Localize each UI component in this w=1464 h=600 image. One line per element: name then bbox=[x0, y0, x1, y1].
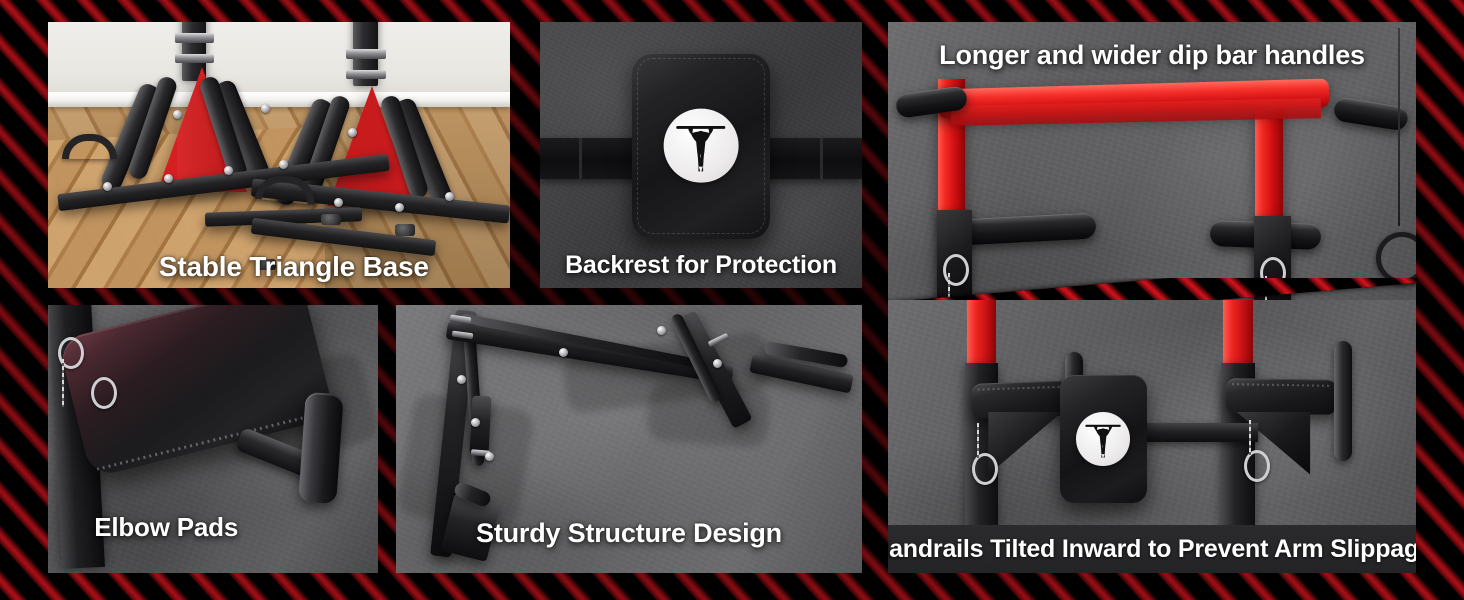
leveling-foot bbox=[321, 214, 341, 226]
bolt bbox=[559, 348, 568, 357]
red-upright-right bbox=[1223, 300, 1253, 371]
bolt bbox=[457, 375, 466, 384]
panel-stable-triangle-base: Stable Triangle Base bbox=[48, 22, 510, 288]
caption-elbow-pads: Elbow Pads bbox=[94, 512, 238, 543]
photo-backrest-for-protection bbox=[540, 22, 862, 288]
caption-handrails-tilted-inward: Handrails Tilted Inward to Prevent Arm S… bbox=[888, 535, 1416, 564]
pulley-cable bbox=[1398, 28, 1400, 225]
photo-stable-triangle-base bbox=[48, 22, 510, 288]
bolt bbox=[485, 452, 494, 461]
center-backrest-pad bbox=[1060, 375, 1147, 503]
panel-handrails-tilted-inward: Handrails Tilted Inward to Prevent Arm S… bbox=[888, 300, 1416, 573]
pin-chain bbox=[62, 359, 64, 407]
clamp-band-right-2 bbox=[346, 70, 386, 79]
pulley-ring bbox=[1376, 232, 1416, 284]
caption-bar-handrails: Handrails Tilted Inward to Prevent Arm S… bbox=[888, 525, 1416, 573]
bolt bbox=[334, 198, 343, 207]
pin-chain-left bbox=[977, 423, 979, 458]
bolt bbox=[395, 203, 404, 212]
caption-stable-triangle-base: Stable Triangle Base bbox=[159, 251, 429, 283]
vertical-handrail-right bbox=[1334, 341, 1352, 461]
panel-dip-bar-handles: Longer and wider dip bar handles bbox=[888, 22, 1416, 340]
armrest-pad-right bbox=[1226, 378, 1337, 415]
backrest-pad bbox=[632, 53, 770, 239]
clamp-band-left bbox=[175, 33, 214, 44]
caption-sturdy-structure-design: Sturdy Structure Design bbox=[476, 518, 782, 549]
bolt bbox=[173, 110, 182, 119]
caption-dip-bar-handles: Longer and wider dip bar handles bbox=[939, 40, 1365, 71]
strap-seam-left bbox=[579, 138, 582, 179]
bolt bbox=[471, 418, 480, 427]
pin-chain-right bbox=[1249, 420, 1251, 455]
bolt bbox=[713, 359, 722, 368]
center-crossbar bbox=[1141, 423, 1257, 442]
bolt bbox=[261, 104, 270, 113]
caption-backrest-for-protection: Backrest for Protection bbox=[565, 251, 837, 280]
wall-skirting-board bbox=[48, 92, 510, 107]
panel-elbow-pads: Elbow Pads bbox=[48, 305, 378, 573]
pull-up-athlete-icon bbox=[1082, 418, 1124, 460]
brand-logo-badge bbox=[1076, 412, 1130, 466]
clamp-band-left-2 bbox=[175, 54, 214, 63]
vertical-hand-grip bbox=[298, 392, 344, 504]
locking-pin-secondary bbox=[91, 377, 117, 409]
pull-up-athlete-icon bbox=[672, 117, 730, 175]
panel-backrest-for-protection: Backrest for Protection bbox=[540, 22, 862, 288]
clamp-band-right bbox=[346, 49, 386, 60]
red-upright-left bbox=[967, 300, 996, 371]
strap-seam-right bbox=[820, 138, 823, 179]
brand-logo-badge bbox=[664, 108, 739, 183]
panel-sturdy-structure-design: Sturdy Structure Design bbox=[396, 305, 862, 573]
leveling-foot bbox=[395, 224, 415, 236]
bolt bbox=[164, 174, 173, 183]
bolt bbox=[224, 166, 233, 175]
infographic-canvas: Stable Triangle Base bbox=[0, 0, 1464, 600]
